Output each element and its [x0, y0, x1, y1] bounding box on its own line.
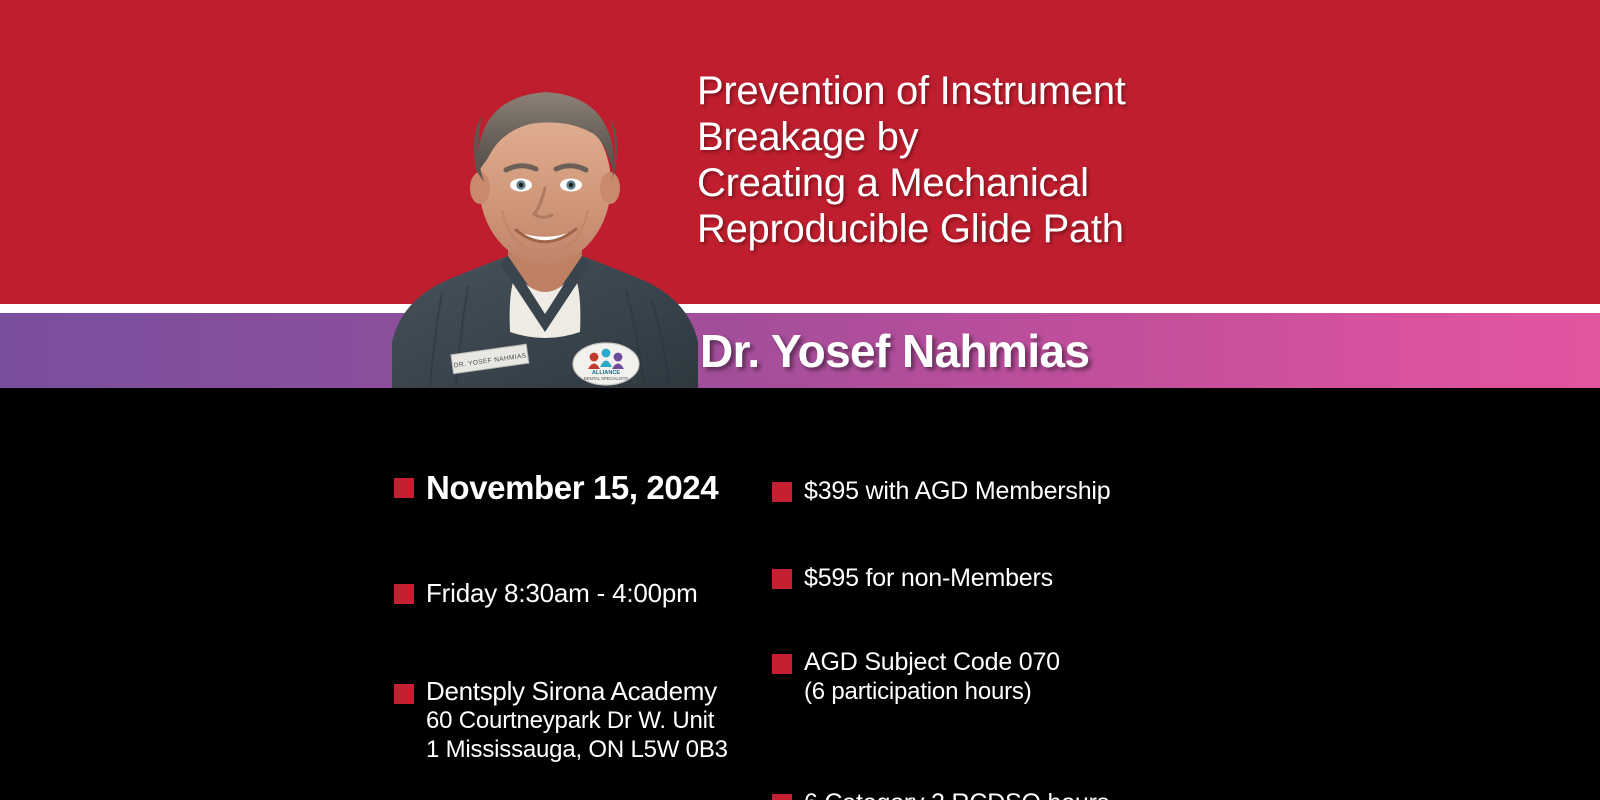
details-right-column: $395 with AGD Membership $595 for non-Me… — [772, 470, 1192, 620]
event-banner: Prevention of Instrument Breakage by Cre… — [0, 0, 1600, 800]
square-bullet-icon — [394, 478, 414, 498]
headline-line-4: Reproducible Glide Path — [697, 206, 1337, 252]
detail-time: Friday 8:30am - 4:00pm — [394, 578, 744, 608]
detail-nonmember-price-text: $595 for non-Members — [804, 563, 1192, 593]
headline-line-2: Breakage by — [697, 114, 1337, 160]
detail-member-price-text: $395 with AGD Membership — [804, 476, 1192, 506]
detail-rcdso-hours: 6 Category 2 RCDSO hours — [772, 788, 1192, 800]
headline-line-1: Prevention of Instrument — [697, 68, 1337, 114]
speaker-portrait-illustration: DR. YOSEF NAHMIAS ALLIANCE DENTAL SPECIA… — [390, 42, 700, 388]
detail-venue-name: Dentsply Sirona Academy — [426, 676, 744, 706]
detail-member-price: $395 with AGD Membership — [772, 476, 1192, 506]
detail-agd-code-text: AGD Subject Code 070 — [804, 647, 1192, 677]
svg-text:DENTAL SPECIALISTS: DENTAL SPECIALISTS — [584, 376, 628, 381]
headline-line-3: Creating a Mechanical — [697, 160, 1337, 206]
detail-agd-hours-text: (6 participation hours) — [804, 677, 1192, 707]
square-bullet-icon — [772, 482, 792, 502]
detail-date-text: November 15, 2024 — [426, 470, 744, 506]
page-title: Prevention of Instrument Breakage by Cre… — [697, 68, 1337, 252]
detail-agd-code: AGD Subject Code 070 (6 participation ho… — [772, 647, 1192, 707]
square-bullet-icon — [394, 684, 414, 704]
clinic-logo-patch: ALLIANCE DENTAL SPECIALISTS — [573, 343, 639, 385]
detail-nonmember-price: $595 for non-Members — [772, 563, 1192, 593]
square-bullet-icon — [772, 654, 792, 674]
detail-venue-address-line-1: 60 Courtneypark Dr W. Unit — [426, 706, 744, 735]
square-bullet-icon — [772, 569, 792, 589]
speaker-name: Dr. Yosef Nahmias — [700, 313, 1090, 388]
details-left-column: November 15, 2024 Friday 8:30am - 4:00pm… — [394, 470, 744, 624]
square-bullet-icon — [394, 584, 414, 604]
speaker-photo: DR. YOSEF NAHMIAS ALLIANCE DENTAL SPECIA… — [390, 42, 700, 388]
detail-venue: Dentsply Sirona Academy 60 Courtneypark … — [394, 676, 744, 764]
square-bullet-icon — [772, 794, 792, 800]
detail-rcdso-hours-text: 6 Category 2 RCDSO hours — [804, 788, 1192, 800]
detail-venue-address-line-2: 1 Mississauga, ON L5W 0B3 — [426, 735, 744, 764]
white-divider-strip — [0, 304, 1600, 313]
detail-date: November 15, 2024 — [394, 470, 744, 506]
detail-time-text: Friday 8:30am - 4:00pm — [426, 578, 744, 608]
